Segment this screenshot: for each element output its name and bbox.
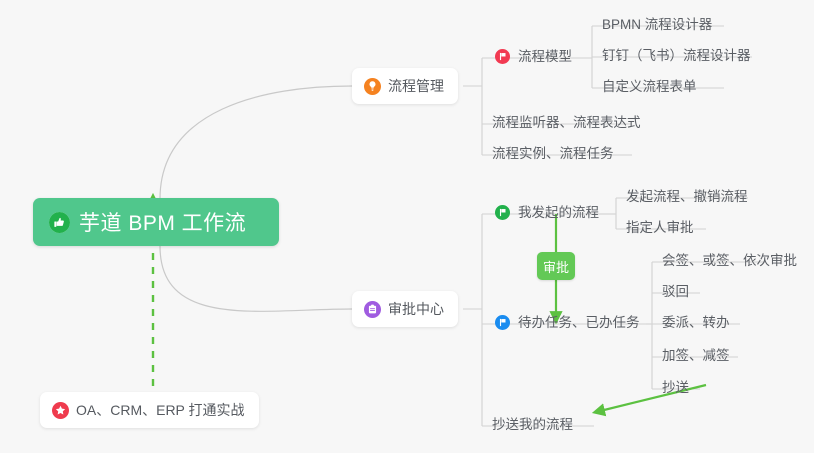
annotation-tag-approval: 审批: [537, 252, 575, 280]
node-label-reject: 驳回: [662, 285, 689, 306]
thumbs-up-icon: [49, 212, 70, 233]
node-add-remove-sign[interactable]: 加签、减签: [660, 339, 740, 369]
branch-node-approval-center[interactable]: 审批中心: [352, 291, 458, 327]
node-label-my-processes: 我发起的流程: [518, 206, 599, 227]
node-assignee-approval[interactable]: 指定人审批: [624, 211, 704, 241]
node-process-model[interactable]: 流程模型: [492, 40, 582, 70]
mindmap-canvas: 芋道 BPM 工作流 OA、CRM、ERP 打通实战 流程管理: [0, 0, 814, 453]
flag-blue-icon: [494, 314, 511, 331]
node-label-process-model: 流程模型: [518, 50, 572, 71]
annotation-tag-label: 审批: [543, 257, 569, 276]
node-label-instance-task: 流程实例、流程任务: [492, 147, 614, 168]
root-node[interactable]: 芋道 BPM 工作流: [33, 198, 279, 246]
lightbulb-icon: [364, 78, 381, 95]
node-label-listener-expression: 流程监听器、流程表达式: [492, 116, 641, 137]
clipboard-icon: [364, 301, 381, 318]
node-label-start-cancel-process: 发起流程、撤销流程: [626, 190, 748, 211]
node-label-cc-my-processes: 抄送我的流程: [492, 418, 573, 439]
node-my-processes[interactable]: 我发起的流程: [492, 196, 609, 226]
node-bpmn-designer[interactable]: BPMN 流程设计器: [600, 8, 722, 38]
node-start-cancel-process[interactable]: 发起流程、撤销流程: [624, 180, 758, 210]
node-label-assignee-approval: 指定人审批: [626, 221, 694, 242]
branch-label-process-management: 流程管理: [388, 76, 444, 96]
star-icon: [52, 402, 69, 419]
node-label-countersign: 会签、或签、依次审批: [662, 254, 797, 275]
node-label-delegate-transfer: 委派、转办: [662, 316, 730, 337]
integration-note-node[interactable]: OA、CRM、ERP 打通实战: [40, 392, 259, 428]
node-reject[interactable]: 驳回: [660, 275, 699, 305]
flag-green-icon: [494, 204, 511, 221]
node-label-dingtalk-designer: 钉钉（飞书）流程设计器: [602, 49, 751, 70]
node-label-cc: 抄送: [662, 381, 689, 402]
root-label: 芋道 BPM 工作流: [79, 207, 246, 237]
node-label-bpmn-designer: BPMN 流程设计器: [602, 18, 712, 39]
node-delegate-transfer[interactable]: 委派、转办: [660, 306, 740, 336]
flag-red-icon: [494, 48, 511, 65]
node-instance-task[interactable]: 流程实例、流程任务: [490, 137, 624, 167]
node-label-todo-done-tasks: 待办任务、已办任务: [518, 316, 640, 337]
branch-label-approval-center: 审批中心: [388, 299, 444, 319]
branch-node-process-management[interactable]: 流程管理: [352, 68, 458, 104]
node-custom-form[interactable]: 自定义流程表单: [600, 70, 707, 100]
node-countersign[interactable]: 会签、或签、依次审批: [660, 244, 807, 274]
integration-note-label: OA、CRM、ERP 打通实战: [76, 400, 245, 420]
node-todo-done-tasks[interactable]: 待办任务、已办任务: [492, 306, 650, 336]
node-dingtalk-designer[interactable]: 钉钉（飞书）流程设计器: [600, 39, 761, 69]
node-label-custom-form: 自定义流程表单: [602, 80, 697, 101]
node-label-add-remove-sign: 加签、减签: [662, 349, 730, 370]
node-cc-my-processes[interactable]: 抄送我的流程: [490, 408, 583, 438]
node-cc[interactable]: 抄送: [660, 371, 699, 401]
node-listener-expression[interactable]: 流程监听器、流程表达式: [490, 106, 651, 136]
